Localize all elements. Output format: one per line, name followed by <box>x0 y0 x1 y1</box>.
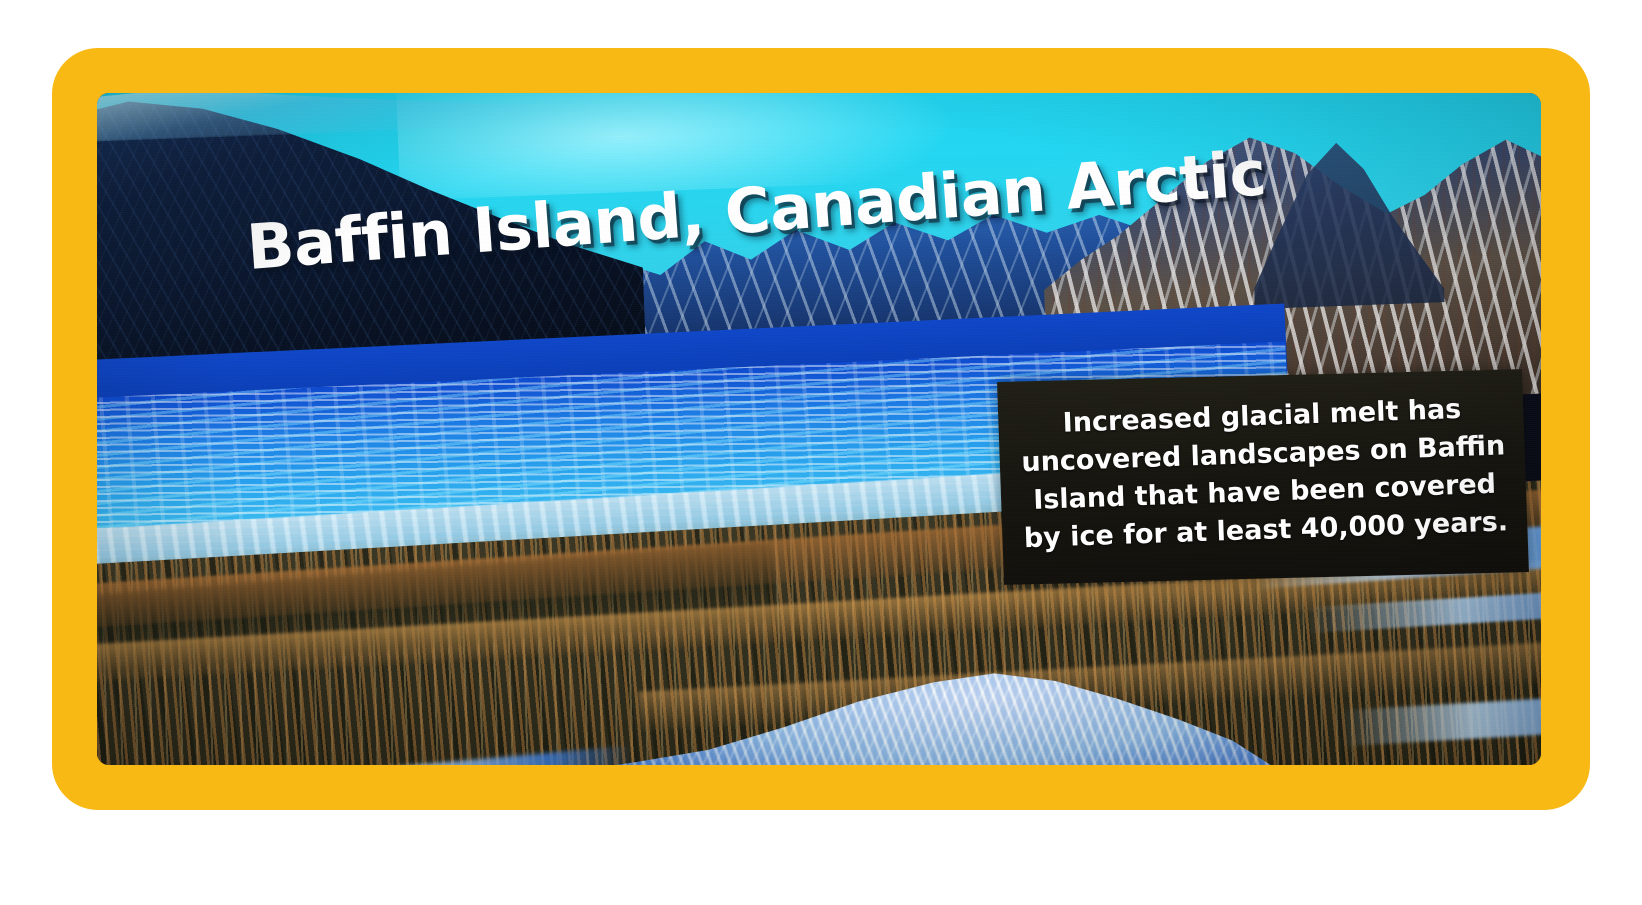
photograph: ENT MALAYSIAN CONFERENCE <box>97 93 1541 765</box>
caption-box <box>997 369 1529 585</box>
screenshot-root: ENT MALAYSIAN CONFERENCE <box>0 0 1642 905</box>
photo-content: ENT MALAYSIAN CONFERENCE <box>97 93 1541 765</box>
